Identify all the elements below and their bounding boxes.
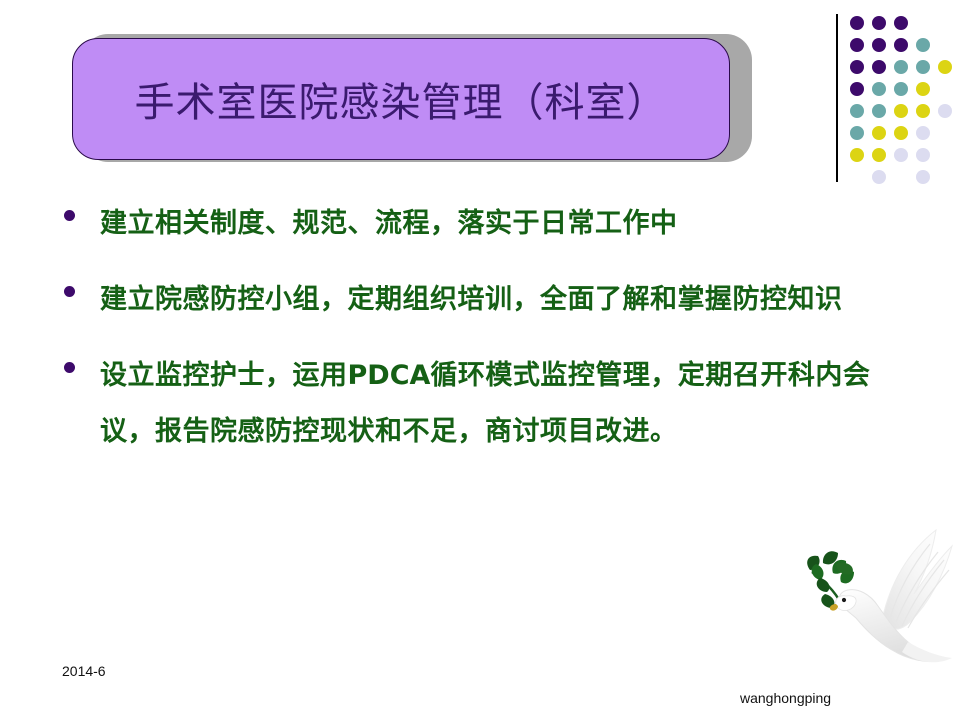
page-title: 手术室医院感染管理（科室） (135, 70, 668, 128)
decorative-dot (850, 126, 864, 140)
title-banner: 手术室医院感染管理（科室） (72, 38, 742, 166)
list-item: 建立相关制度、规范、流程，落实于日常工作中 (64, 196, 924, 252)
decorative-dot (850, 104, 864, 118)
decorative-dot (916, 82, 930, 96)
decorative-dot (894, 38, 908, 52)
bullet-marker-icon (64, 362, 75, 373)
decorative-dot (850, 82, 864, 96)
footer-author: wanghongping (740, 690, 831, 706)
list-item-text: 设立监控护士，运用PDCA循环模式监控管理，定期召开科内会议，报告院感防控现状和… (100, 348, 924, 460)
decorative-dot (850, 16, 864, 30)
decorative-dot (916, 148, 930, 162)
list-item: 建立院感防控小组，定期组织培训，全面了解和掌握防控知识 (64, 272, 924, 328)
bullet-marker-icon (64, 286, 75, 297)
decorative-dot (916, 60, 930, 74)
title-box: 手术室医院感染管理（科室） (72, 38, 730, 160)
decorative-dot (916, 38, 930, 52)
text-run: 建立院感防控小组，定期组织培训，全面了解和掌握防控知识 (100, 284, 843, 315)
decorative-dot (894, 60, 908, 74)
decorative-dot (872, 170, 886, 184)
decorative-dot (894, 16, 908, 30)
dove-logo (786, 516, 956, 666)
decorative-dot (872, 16, 886, 30)
list-item-text: 建立相关制度、规范、流程，落实于日常工作中 (100, 196, 924, 252)
decorative-dot (872, 104, 886, 118)
emphasis-term: PDCA (348, 360, 431, 391)
decorative-dot (850, 60, 864, 74)
decorative-dot (850, 38, 864, 52)
text-run: 设立监控护士，运用 (100, 360, 348, 391)
decorative-dot (850, 148, 864, 162)
dove-wing (882, 530, 952, 629)
list-item-text: 建立院感防控小组，定期组织培训，全面了解和掌握防控知识 (100, 272, 924, 328)
decorative-dot (894, 126, 908, 140)
decorative-dot (872, 126, 886, 140)
presentation-slide: 手术室医院感染管理（科室） 建立相关制度、规范、流程，落实于日常工作中建立院感防… (0, 0, 960, 720)
decorative-dot (938, 104, 952, 118)
decorative-dot (916, 126, 930, 140)
bullet-list: 建立相关制度、规范、流程，落实于日常工作中建立院感防控小组，定期组织培训，全面了… (64, 196, 924, 480)
decorative-dot (894, 104, 908, 118)
decorative-dot (872, 38, 886, 52)
bullet-marker-icon (64, 210, 75, 221)
decorative-dot (916, 170, 930, 184)
decorative-dot (894, 82, 908, 96)
text-run: 建立相关制度、规范、流程，落实于日常工作中 (100, 208, 678, 239)
list-item: 设立监控护士，运用PDCA循环模式监控管理，定期召开科内会议，报告院感防控现状和… (64, 348, 924, 460)
decorative-dot (872, 148, 886, 162)
decorative-dot (872, 82, 886, 96)
decorative-dot (916, 104, 930, 118)
decorative-dot (938, 60, 952, 74)
dot-grid-decoration (836, 8, 960, 188)
decorative-dot (872, 60, 886, 74)
footer-date: 2014-6 (62, 663, 106, 679)
dove-with-olive-branch-icon (786, 516, 956, 666)
decorative-dot (894, 148, 908, 162)
vertical-rule (836, 14, 838, 182)
